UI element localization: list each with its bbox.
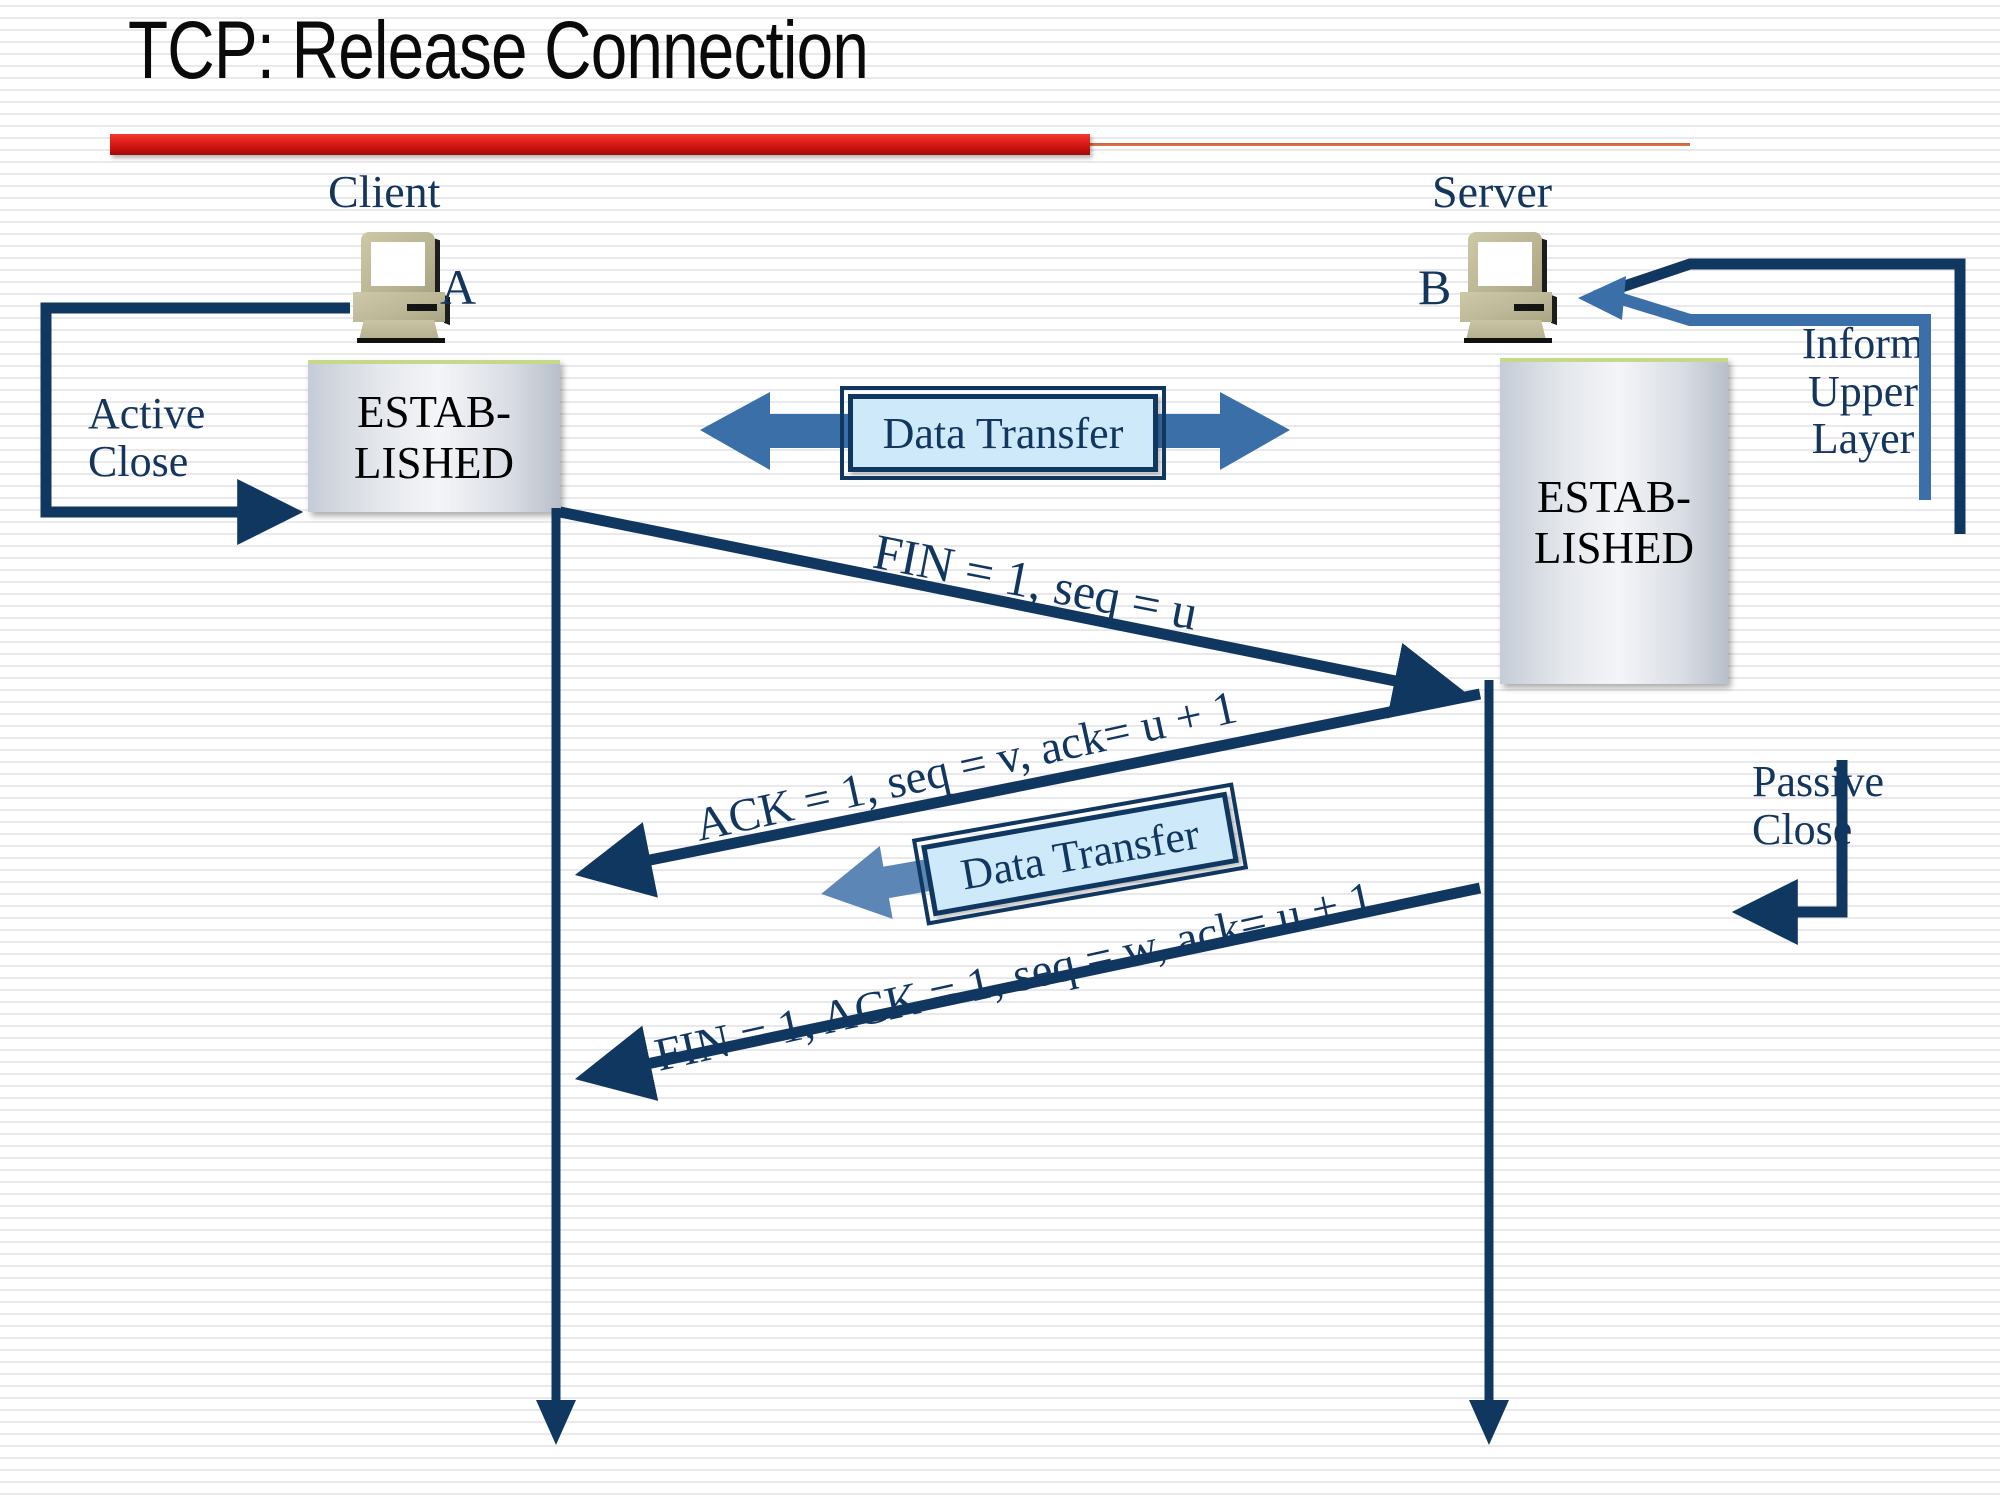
monitor-screen: [1478, 242, 1532, 286]
client-column-title: Client: [328, 165, 440, 218]
client-computer-icon: [345, 232, 453, 344]
data-transfer-right-arrow: [1150, 392, 1290, 470]
active-close-label: Active Close: [88, 390, 205, 485]
computer-foot-line: [357, 338, 445, 343]
data-transfer-chip-bottom: Data Transfer: [921, 792, 1239, 917]
page-title: TCP: Release Connection: [128, 10, 868, 92]
passive-close-label: Passive Close: [1752, 758, 1884, 853]
server-endpoint-letter: B: [1418, 258, 1451, 316]
client-state-box: ESTAB- LISHED: [308, 360, 560, 512]
server-lifeline-arrowhead: [1469, 1400, 1509, 1445]
inform-upper-layer-arrowhead: [1578, 276, 1626, 320]
computer-foot: [1466, 320, 1546, 340]
drive-slot: [1514, 304, 1544, 311]
title-underline-bar: [110, 134, 1090, 155]
inform-upper-layer-label: Inform Upper Layer: [1778, 320, 1948, 463]
client-state-label: ESTAB- LISHED: [354, 387, 514, 490]
message-label-fin-ack: FIN = 1, ACK = 1, seq = w, ack= u + 1: [650, 871, 1378, 1083]
monitor-screen: [371, 242, 425, 286]
server-column-title: Server: [1432, 165, 1552, 218]
message-label-fin-1: FIN = 1, seq = u: [869, 522, 1203, 642]
computer-foot-line: [1464, 338, 1552, 343]
data-transfer-chip-top: Data Transfer: [848, 394, 1158, 472]
slide-canvas: TCP: Release Connection Client Server A …: [0, 0, 2000, 1500]
server-state-box: ESTAB- LISHED: [1500, 358, 1728, 684]
drive-slot: [407, 304, 437, 311]
server-state-label: ESTAB- LISHED: [1534, 472, 1694, 575]
client-endpoint-letter: A: [440, 258, 476, 316]
server-computer-icon: [1452, 232, 1560, 344]
data-transfer-left-arrow: [700, 392, 848, 470]
computer-foot: [359, 320, 439, 340]
client-lifeline-arrowhead: [536, 1400, 576, 1445]
